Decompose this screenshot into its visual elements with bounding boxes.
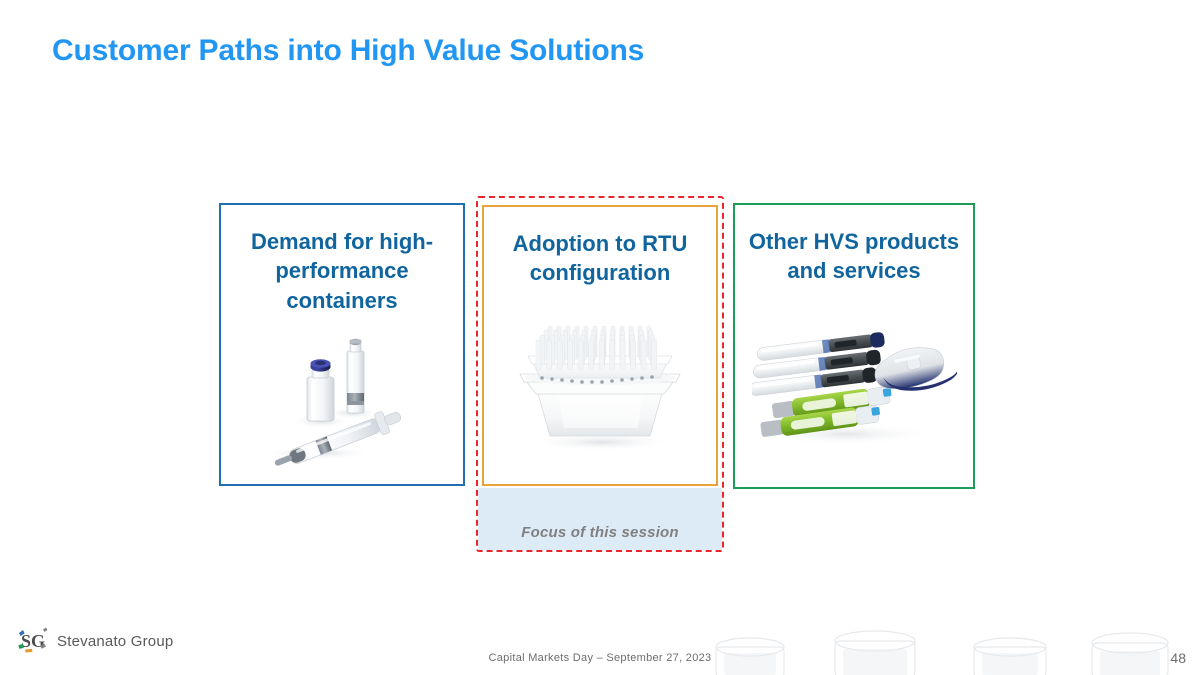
card-other-figure [735, 286, 973, 488]
footer-note: Capital Markets Day – September 27, 2023 [0, 652, 1200, 664]
card-rtu-title: Adoption to RTU configuration [484, 229, 716, 288]
brand-logo-text: Stevanato Group [57, 633, 173, 650]
card-other-hvs-products-and-services[interactable]: Other HVS products and services [733, 203, 975, 489]
focus-label: Focus of this session [521, 524, 679, 541]
footer-background-vials-image [680, 617, 1200, 675]
card-rtu-figure [484, 288, 716, 485]
vials-cartridge-syringe-photo [257, 329, 427, 469]
card-demand-title: Demand for high-performance containers [221, 227, 463, 315]
card-demand-figure [221, 315, 463, 484]
page-number: 48 [1170, 650, 1186, 666]
focus-band: Focus of this session [478, 488, 722, 550]
rtu-nest-and-tub-photo [510, 316, 690, 456]
card-adoption-to-rtu-configuration[interactable]: Adoption to RTU configuration [482, 205, 718, 486]
diagram-canvas: Focus of this session Demand for high-pe… [0, 0, 1200, 600]
card-other-title: Other HVS products and services [735, 227, 973, 286]
card-demand-for-high-performance-containers[interactable]: Demand for high-performance containers [219, 203, 465, 486]
autoinjector-pens-photo [752, 324, 957, 449]
